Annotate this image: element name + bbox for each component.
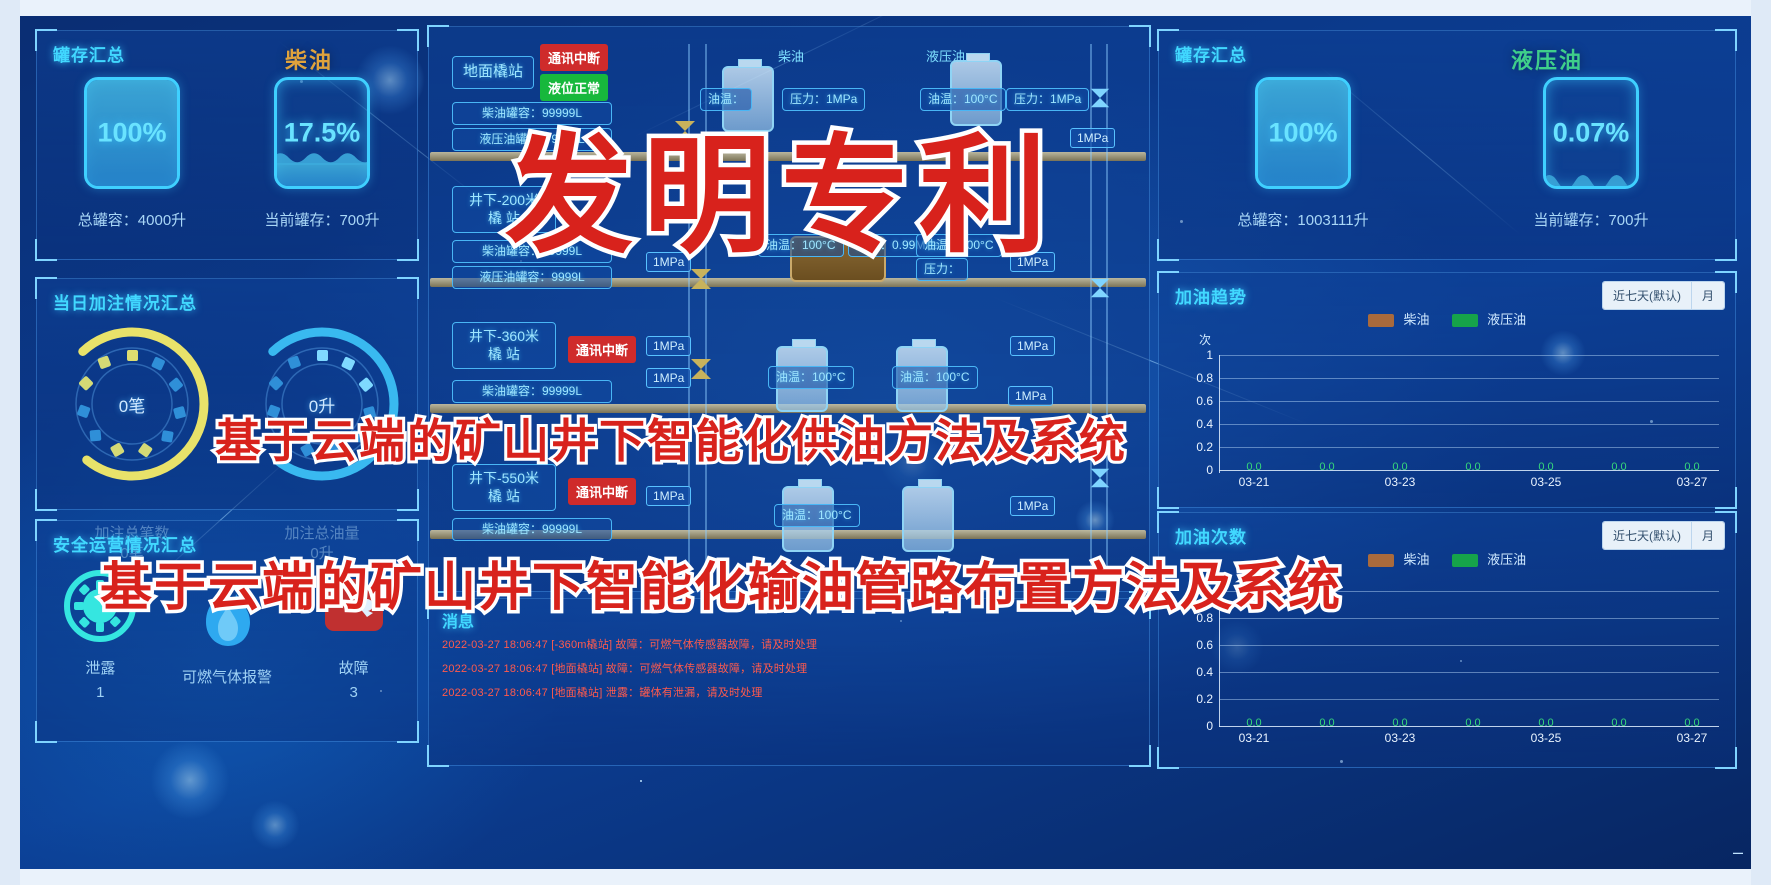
legend-label: 柴油 xyxy=(1403,552,1429,567)
watermark-line2: 基于云端的矿山井下智能化输油管路布置方法及系统 xyxy=(100,545,1342,620)
valve-icon xyxy=(1088,276,1112,300)
tank-percent: 100% xyxy=(1258,118,1348,149)
safety-label: 可燃气体报警 xyxy=(182,666,272,687)
fuel-type-label: 柴油 xyxy=(285,43,333,75)
fuel-type-label: 液压油 xyxy=(1511,43,1583,75)
tank-gauges: 100% 总罐容：4000升 17.5% 当前罐存：700升 xyxy=(37,77,417,227)
status-badge: 通讯中断 xyxy=(568,478,636,505)
pressure-tag: 1MPa xyxy=(1010,496,1055,516)
tank-gauges: 100% 总罐容：1003111升 0.07% 当前罐存：700升 xyxy=(1159,77,1735,227)
pressure-tag: 1MPa xyxy=(1070,128,1115,148)
legend-swatch xyxy=(1368,554,1394,567)
x-tick: 03-21 xyxy=(1239,731,1270,745)
legend-label: 液压油 xyxy=(1487,312,1526,327)
safety-label: 泄露 xyxy=(85,657,115,678)
range-selector[interactable]: 近七天(默认) 月 xyxy=(1602,521,1725,550)
pressure-tag: 1MPa xyxy=(1008,386,1053,406)
panel-title: 罐存汇总 xyxy=(53,41,125,66)
y-tick: 0.4 xyxy=(1179,417,1213,431)
point-label: 0.0 xyxy=(1392,717,1407,729)
pressure-tag: 1MPa xyxy=(646,368,691,388)
liquid-wave-icon xyxy=(1543,164,1639,186)
legend-swatch xyxy=(1452,554,1478,567)
point-label: 0.0 xyxy=(1611,461,1626,473)
tank-box-current: 0.07% xyxy=(1543,77,1639,189)
log-entry: 2022-03-27 18:06:47 [地面橇站] 故障：可燃气体传感器故障，… xyxy=(442,660,807,676)
legend-label: 柴油 xyxy=(1403,312,1429,327)
meter-temp: 油温：100°C xyxy=(892,366,978,389)
refuel-trend-chart-panel: 加油趋势 近七天(默认) 月 柴油 液压油 次 1 0.8 xyxy=(1158,272,1736,508)
point-label: 0.0 xyxy=(1684,461,1699,473)
valve-icon xyxy=(1088,86,1112,110)
panel-title: 罐存汇总 xyxy=(1175,41,1247,66)
point-label: 0.0 xyxy=(1246,717,1261,729)
x-tick: 03-25 xyxy=(1531,475,1562,489)
safety-label: 故障 xyxy=(339,657,369,678)
watermark-line1: 基于云端的矿山井下智能化供油方法及系统 xyxy=(215,405,1127,471)
valve-icon xyxy=(688,356,714,382)
frame-left-rail xyxy=(0,0,20,885)
liquid-wave-icon xyxy=(274,147,370,165)
gauge-value: 0笔 xyxy=(47,319,217,489)
log-entry: 2022-03-27 18:06:47 [地面橇站] 泄露：罐体有泄漏，请及时处… xyxy=(442,684,763,700)
safety-value: 3 xyxy=(349,684,357,701)
panel-title: 当日加注情况汇总 xyxy=(53,289,197,314)
message-log: 消息 2022-03-27 18:06:47 [-360m橇站] 故障：可燃气体… xyxy=(430,600,1150,765)
log-entry: 2022-03-27 18:06:47 [-360m橇站] 故障：可燃气体传感器… xyxy=(442,636,817,652)
point-label: 0.0 xyxy=(1611,717,1626,729)
y-tick: 1 xyxy=(1179,348,1213,362)
y-axis-line xyxy=(1219,355,1220,473)
tank-current: 17.5% 当前罐存：700升 xyxy=(235,77,410,230)
left-tank-summary-panel: 罐存汇总 柴油 100% 总罐容：4000升 17.5% 当前罐存：700升 xyxy=(36,30,418,260)
tank-percent: 17.5% xyxy=(277,118,367,149)
y-tick: 0.8 xyxy=(1179,371,1213,385)
dashboard-root: 罐存汇总 柴油 100% 总罐容：4000升 17.5% 当前罐存：700升 xyxy=(0,0,1771,885)
point-label: 0.0 xyxy=(1538,461,1553,473)
tank-caption: 总罐容：4000升 xyxy=(78,209,186,230)
legend-swatch xyxy=(1368,314,1394,327)
watermark-main: 发明专利 xyxy=(505,92,1057,277)
station-name[interactable]: 井下-360米 橇 站 xyxy=(452,322,556,369)
y-tick: 0.2 xyxy=(1179,440,1213,454)
tank-box-total: 100% xyxy=(1255,77,1351,189)
legend-label: 液压油 xyxy=(1487,552,1526,567)
panel-title: 加油趋势 xyxy=(1175,283,1247,308)
refuel-gauge-count: 0笔 加注总笔数 0笔 xyxy=(47,319,217,489)
tank-box-total: 100% xyxy=(84,77,180,189)
point-label: 0.0 xyxy=(1246,461,1261,473)
legend-swatch xyxy=(1452,314,1478,327)
y-tick: 0.2 xyxy=(1179,692,1213,706)
legend-item-diesel: 柴油 xyxy=(1368,549,1430,568)
y-tick: 0.6 xyxy=(1179,394,1213,408)
y-tick: 0.4 xyxy=(1179,665,1213,679)
tank-current: 0.07% 当前罐存：700升 xyxy=(1459,77,1724,230)
range-option-week[interactable]: 近七天(默认) xyxy=(1603,282,1692,309)
pressure-tag: 1MPa xyxy=(1010,336,1055,356)
y-tick: 0.6 xyxy=(1179,638,1213,652)
chart-legend: 柴油 液压油 xyxy=(1159,309,1735,328)
station-name[interactable]: 地面橇站 xyxy=(452,56,534,89)
minimize-icon[interactable]: – xyxy=(1727,845,1749,867)
y-tick: 0 xyxy=(1179,463,1213,477)
daily-refuel-panel: 当日加注情况汇总 xyxy=(36,278,418,510)
point-label: 0.0 xyxy=(1684,717,1699,729)
meter-temp: 油温：100°C xyxy=(774,504,860,527)
station-name[interactable]: 井下-550米 橇 站 xyxy=(452,464,556,511)
x-tick: 03-27 xyxy=(1677,731,1708,745)
point-label: 0.0 xyxy=(1465,461,1480,473)
x-tick: 03-27 xyxy=(1677,475,1708,489)
station-name-text: 井下-360米 橇 站 xyxy=(469,328,539,362)
point-label: 0.0 xyxy=(1392,461,1407,473)
tank-unit xyxy=(902,486,954,552)
tank-caption: 总罐容：1003111升 xyxy=(1237,209,1368,230)
y-tick: 0 xyxy=(1179,719,1213,733)
status-badge: 通讯中断 xyxy=(540,44,608,71)
tank-caption: 当前罐存：700升 xyxy=(264,209,379,230)
safety-value: 1 xyxy=(96,684,104,701)
section-label-diesel: 柴油 xyxy=(778,46,804,65)
frame-right-rail xyxy=(1751,0,1771,885)
x-tick: 03-25 xyxy=(1531,731,1562,745)
x-tick: 03-23 xyxy=(1385,475,1416,489)
tank-total: 100% 总罐容：1003111升 xyxy=(1171,77,1436,230)
tank-percent: 100% xyxy=(87,118,177,149)
pressure-tag: 1MPa xyxy=(646,486,691,506)
pressure-tag: 1MPa xyxy=(646,336,691,356)
y-axis-unit: 次 xyxy=(1199,331,1211,348)
right-tank-summary-panel: 罐存汇总 液压油 100% 总罐容：1003111升 0.07% 当前罐存：70… xyxy=(1158,30,1736,260)
meter-temp: 油温：100°C xyxy=(768,366,854,389)
point-label: 0.0 xyxy=(1319,461,1334,473)
station-name-text: 井下-550米 橇 站 xyxy=(469,470,539,504)
tank-box-current: 17.5% xyxy=(274,77,370,189)
chart-plot-area: 次 1 0.8 0.6 0.4 0.2 0 0.0 0.0 0.0 0.0 0.… xyxy=(1159,329,1735,507)
tank-caption: 当前罐存：700升 xyxy=(1533,209,1648,230)
legend-item-hydraulic: 液压油 xyxy=(1452,309,1527,328)
tank-percent: 0.07% xyxy=(1546,118,1636,149)
range-option-week[interactable]: 近七天(默认) xyxy=(1603,522,1692,549)
point-label: 0.0 xyxy=(1465,717,1480,729)
station-capacity: 柴油罐容：99999L xyxy=(452,518,612,541)
legend-item-hydraulic: 液压油 xyxy=(1452,549,1527,568)
point-label: 0.0 xyxy=(1319,717,1334,729)
station-capacity: 柴油罐容：99999L xyxy=(452,380,612,403)
x-tick: 03-21 xyxy=(1239,475,1270,489)
point-label: 0.0 xyxy=(1538,717,1553,729)
status-badge: 通讯中断 xyxy=(568,336,636,363)
range-selector[interactable]: 近七天(默认) 月 xyxy=(1602,281,1725,310)
tank-total: 100% 总罐容：4000升 xyxy=(45,77,220,230)
x-tick: 03-23 xyxy=(1385,731,1416,745)
legend-item-diesel: 柴油 xyxy=(1368,309,1430,328)
